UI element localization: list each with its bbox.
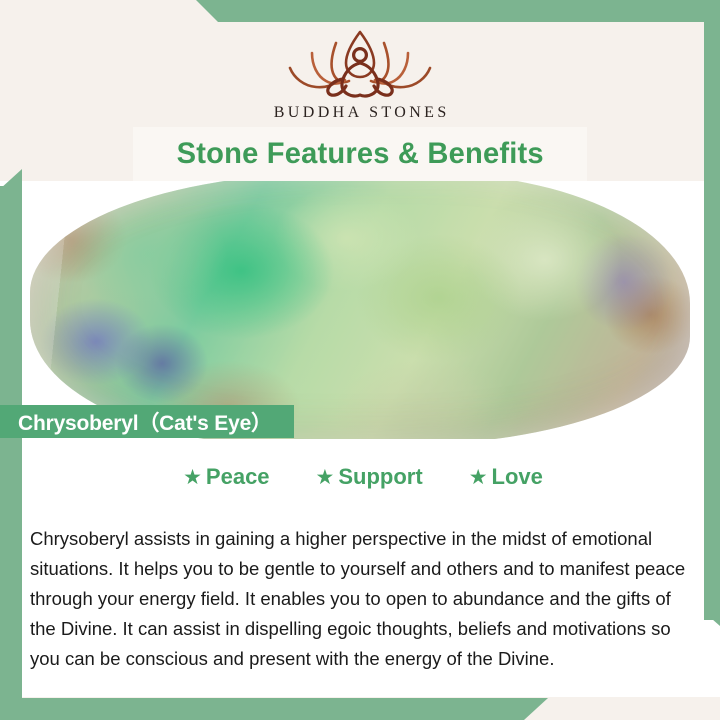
benefit-item-support: ★ Support (316, 464, 423, 490)
stone-description: Chrysoberyl assists in gaining a higher … (30, 524, 690, 674)
benefit-label: Love (492, 464, 543, 490)
page-title: Stone Features & Benefits (176, 137, 543, 171)
star-icon: ★ (469, 467, 488, 488)
benefit-label: Peace (206, 464, 270, 490)
title-banner: Stone Features & Benefits (133, 127, 587, 181)
benefits-row: ★ Peace ★ Support ★ Love (22, 464, 704, 490)
brand-name: BUDDHA STONES (0, 104, 720, 122)
benefit-label: Support (338, 464, 422, 490)
stone-edge-shading (30, 181, 690, 439)
infographic-page: BUDDHA STONES Stone Features & Benefits … (0, 0, 720, 720)
stone-name-label: Chrysoberyl（Cat's Eye） (18, 407, 272, 437)
frame-left-bar (0, 186, 22, 720)
benefit-item-peace: ★ Peace (183, 464, 269, 490)
stone-image-body (30, 181, 690, 439)
stone-name-banner: Chrysoberyl（Cat's Eye） (0, 405, 294, 438)
stone-photo (22, 181, 704, 439)
brand-logo: BUDDHA STONES (0, 24, 720, 122)
benefit-item-love: ★ Love (469, 464, 543, 490)
lotus-meditation-figure-icon (272, 24, 448, 102)
star-icon: ★ (183, 467, 202, 488)
star-icon: ★ (316, 467, 335, 488)
